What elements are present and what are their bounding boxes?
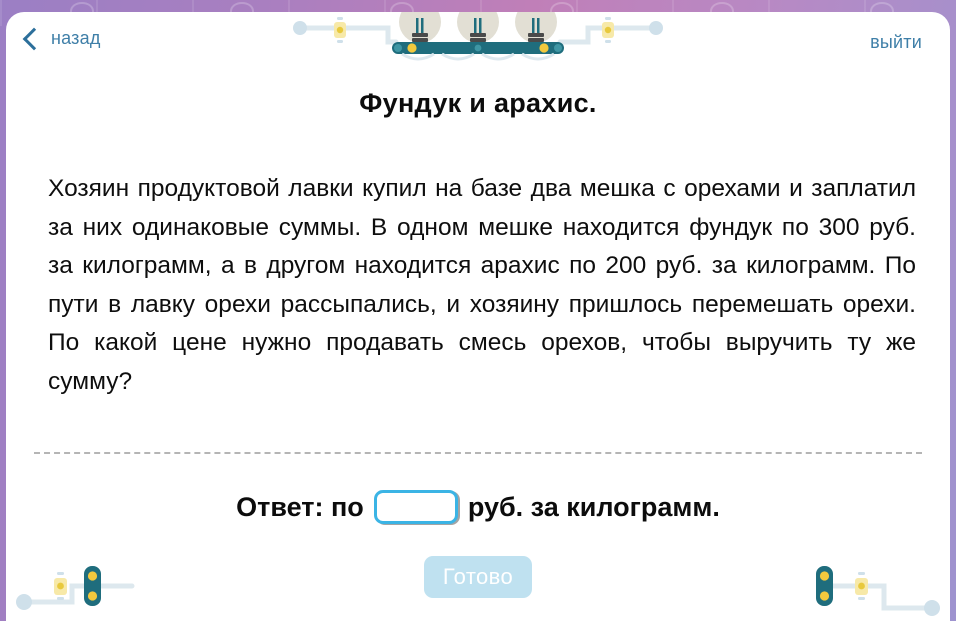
exit-button[interactable]: выйти [864, 28, 928, 57]
answer-prefix-label: Ответ: по [236, 492, 364, 523]
circuit-wire-right-icon [754, 550, 944, 621]
section-divider [34, 452, 922, 454]
circuit-wire-left-icon [12, 550, 202, 621]
back-button[interactable]: назад [20, 24, 107, 53]
answer-input[interactable] [374, 490, 458, 524]
task-statement: Хозяин продуктовой лавки купил на базе д… [48, 170, 916, 401]
lesson-card: назад выйти [6, 12, 950, 621]
submit-button[interactable]: Готово [424, 556, 532, 598]
submit-area: Готово [6, 550, 950, 621]
chevron-left-icon [23, 28, 46, 51]
answer-suffix-label: руб. за килограмм. [468, 492, 720, 523]
top-bar: назад выйти [6, 12, 950, 68]
answer-row: Ответ: по руб. за килограмм. [6, 490, 950, 524]
back-button-label: назад [51, 28, 101, 49]
page-title: Фундук и арахис. [6, 88, 950, 119]
